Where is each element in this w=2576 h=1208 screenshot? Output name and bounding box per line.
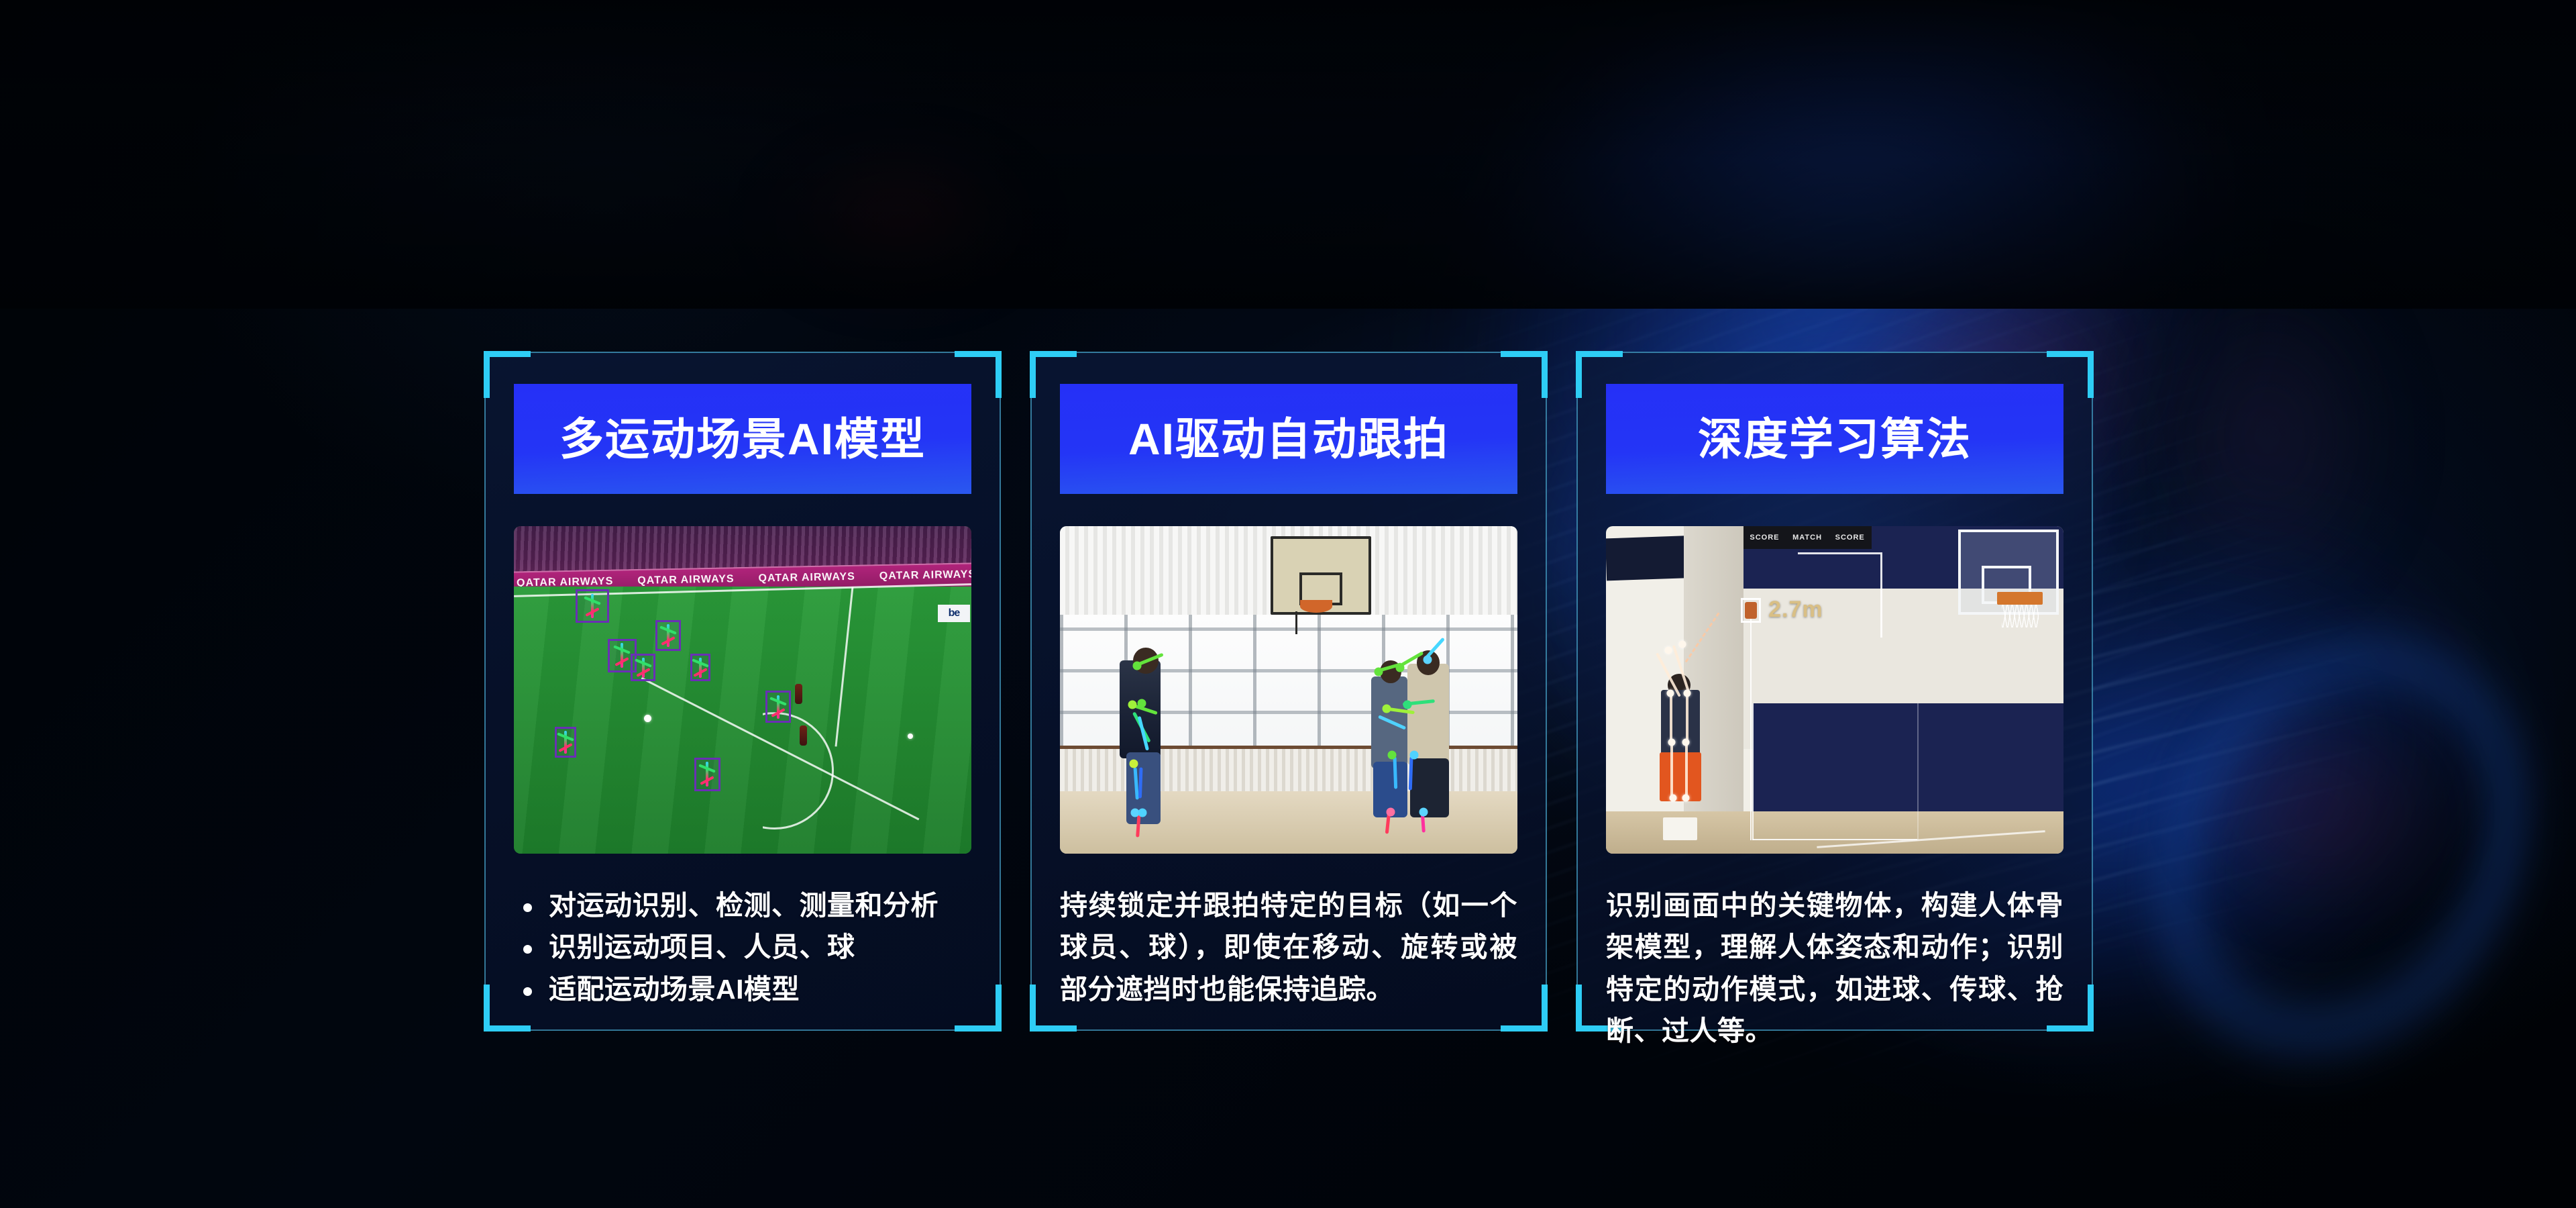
- feature-bullet-list: 对运动识别、检测、测量和分析 识别运动项目、人员、球 适配运动场景AI模型: [514, 885, 971, 1010]
- background-bottom-vignette: [0, 0, 2576, 309]
- basketball-shot-measurement-image: SCORE MATCH SCORE: [1606, 526, 2063, 854]
- card-body-deep-learning-algorithm: 识别画面中的关键物体，构建人体骨架模型，理解人体姿态和动作；识别特定的动作模式，…: [1606, 885, 2063, 1052]
- feature-card-row: 多运动场景AI模型 QATAR AIRWAYS QATAR AIRWAYS QA…: [484, 352, 2094, 1031]
- gym-basketball-pose-skeleton-image: [1060, 526, 1517, 854]
- hud-line-plane-right: [1917, 703, 1919, 841]
- card-body-multi-sport-ai-model: 对运动识别、检测、测量和分析 识别运动项目、人员、球 适配运动场景AI模型: [514, 885, 971, 1010]
- measurement-label: 2.7m: [1768, 597, 1823, 623]
- scoreboard-label-score-left: SCORE: [1750, 534, 1779, 542]
- feature-card-multi-sport-ai-model[interactable]: 多运动场景AI模型 QATAR AIRWAYS QATAR AIRWAYS QA…: [484, 352, 1001, 1031]
- background-haze-shape: [2093, 201, 2442, 671]
- list-item: 适配运动场景AI模型: [514, 968, 971, 1010]
- feature-card-deep-learning-algorithm[interactable]: 深度学习算法 SCORE MATCH SCORE: [1576, 352, 2093, 1031]
- hud-line-plane-left: [1752, 703, 1754, 841]
- scoreboard-label-score-right: SCORE: [1835, 534, 1865, 542]
- pitch-center-arc: [715, 712, 834, 829]
- soccer-pitch-player-detection-image: QATAR AIRWAYS QATAR AIRWAYS QATAR AIRWAY…: [514, 526, 971, 854]
- pose-skeleton-right: [1362, 638, 1499, 841]
- soccer-ball: [644, 715, 651, 722]
- detection-box: [655, 620, 681, 651]
- detection-box: [765, 691, 791, 723]
- list-item: 对运动识别、检测、测量和分析: [514, 885, 971, 926]
- pitch-turf: [514, 587, 971, 854]
- detection-box: [631, 654, 656, 682]
- card-body-ai-auto-tracking: 持续锁定并跟拍特定的目标（如一个球员、球），即使在移动、旋转或被部分遮挡时也能保…: [1060, 885, 1517, 1010]
- list-item: 识别运动项目、人员、球: [514, 926, 971, 968]
- player-pose-skeleton: [1656, 670, 1716, 834]
- slide-stage: 多运动场景AI模型 QATAR AIRWAYS QATAR AIRWAYS QA…: [0, 0, 2576, 1208]
- hud-line-floor: [1752, 839, 1917, 840]
- card-title-multi-sport-ai-model: 多运动场景AI模型: [514, 384, 971, 494]
- adboard-text-4: QATAR AIRWAYS: [867, 568, 971, 583]
- background-warm-accent-left: [724, 121, 1073, 322]
- hud-line-vertical: [1880, 552, 1882, 638]
- feature-card-ai-auto-tracking[interactable]: AI驱动自动跟拍: [1030, 352, 1547, 1031]
- undetected-player: [795, 684, 802, 704]
- detection-box: [694, 758, 720, 791]
- detection-box: [576, 589, 609, 623]
- soccer-ball-secondary: [908, 734, 913, 739]
- background-ring-shape: [2086, 550, 2576, 1142]
- pitch-line-vertical: [835, 587, 854, 747]
- card-title-ai-auto-tracking: AI驱动自动跟拍: [1060, 384, 1517, 494]
- scoreboard-label-match: MATCH: [1792, 534, 1822, 542]
- ball-detection-box: [1741, 598, 1761, 623]
- feature-description: 持续锁定并跟拍特定的目标（如一个球员、球），即使在移动、旋转或被部分遮挡时也能保…: [1060, 885, 1517, 1010]
- scoreboard: SCORE MATCH SCORE: [1743, 526, 1872, 549]
- card-title-deep-learning-algorithm: 深度学习算法: [1606, 384, 2063, 494]
- basketball-net: [2002, 605, 2039, 627]
- broadcast-logo: be: [938, 605, 970, 622]
- backboard-support-pole: [1295, 611, 1297, 634]
- gym-wall-pad-lower: [1752, 703, 2063, 811]
- adboard-text-3: QATAR AIRWAYS: [747, 571, 868, 585]
- background-warm-accent-right: [2147, 671, 2495, 953]
- adboard-text-2: QATAR AIRWAYS: [626, 573, 747, 587]
- background-top-vignette: [0, 0, 2576, 161]
- pose-skeleton-left: [1120, 644, 1175, 841]
- detection-box: [690, 654, 710, 682]
- basketball-rim: [1997, 592, 2043, 605]
- detection-box: [555, 727, 576, 758]
- hud-line-horizontal: [1798, 552, 1880, 554]
- feature-description: 识别画面中的关键物体，构建人体骨架模型，理解人体姿态和动作；识别特定的动作模式，…: [1606, 885, 2063, 1052]
- undetected-player: [800, 725, 807, 746]
